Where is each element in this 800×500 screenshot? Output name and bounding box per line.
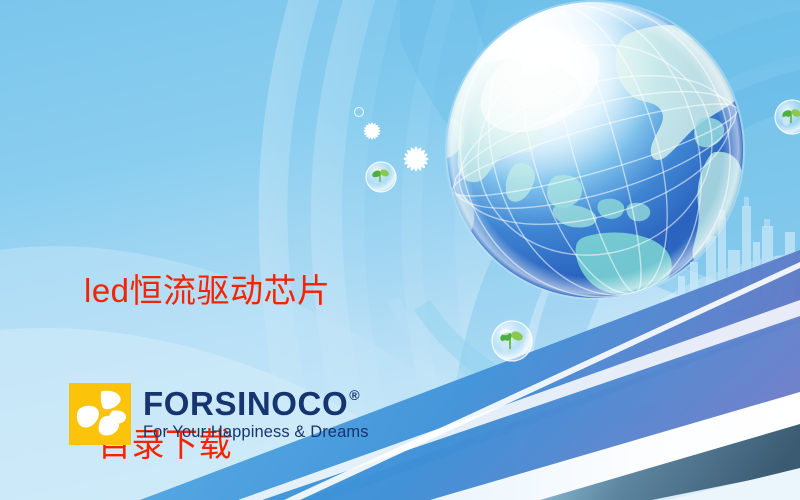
registered-trademark-icon: ® (349, 388, 360, 402)
logo-company-name: FORSINOCO ® (143, 387, 369, 420)
bubble-small-icon (355, 108, 364, 117)
page-title: led恒流驱动芯片 目录下载 (84, 162, 504, 500)
city-skyline-icon (660, 197, 800, 310)
logo-wordmark: FORSINOCO ® For Your Happiness & Dreams (143, 387, 369, 441)
headline-line-1: led恒流驱动芯片 (84, 265, 504, 316)
banner-canvas: led恒流驱动芯片 目录下载 FORSINOCO ® For Your Happ… (0, 0, 800, 500)
logo-tagline: For Your Happiness & Dreams (143, 424, 369, 441)
logo-company-name-text: FORSINOCO (143, 387, 348, 420)
four-petal-pinwheel-icon (69, 383, 131, 445)
brand-logo[interactable]: FORSINOCO ® For Your Happiness & Dreams (69, 383, 369, 445)
